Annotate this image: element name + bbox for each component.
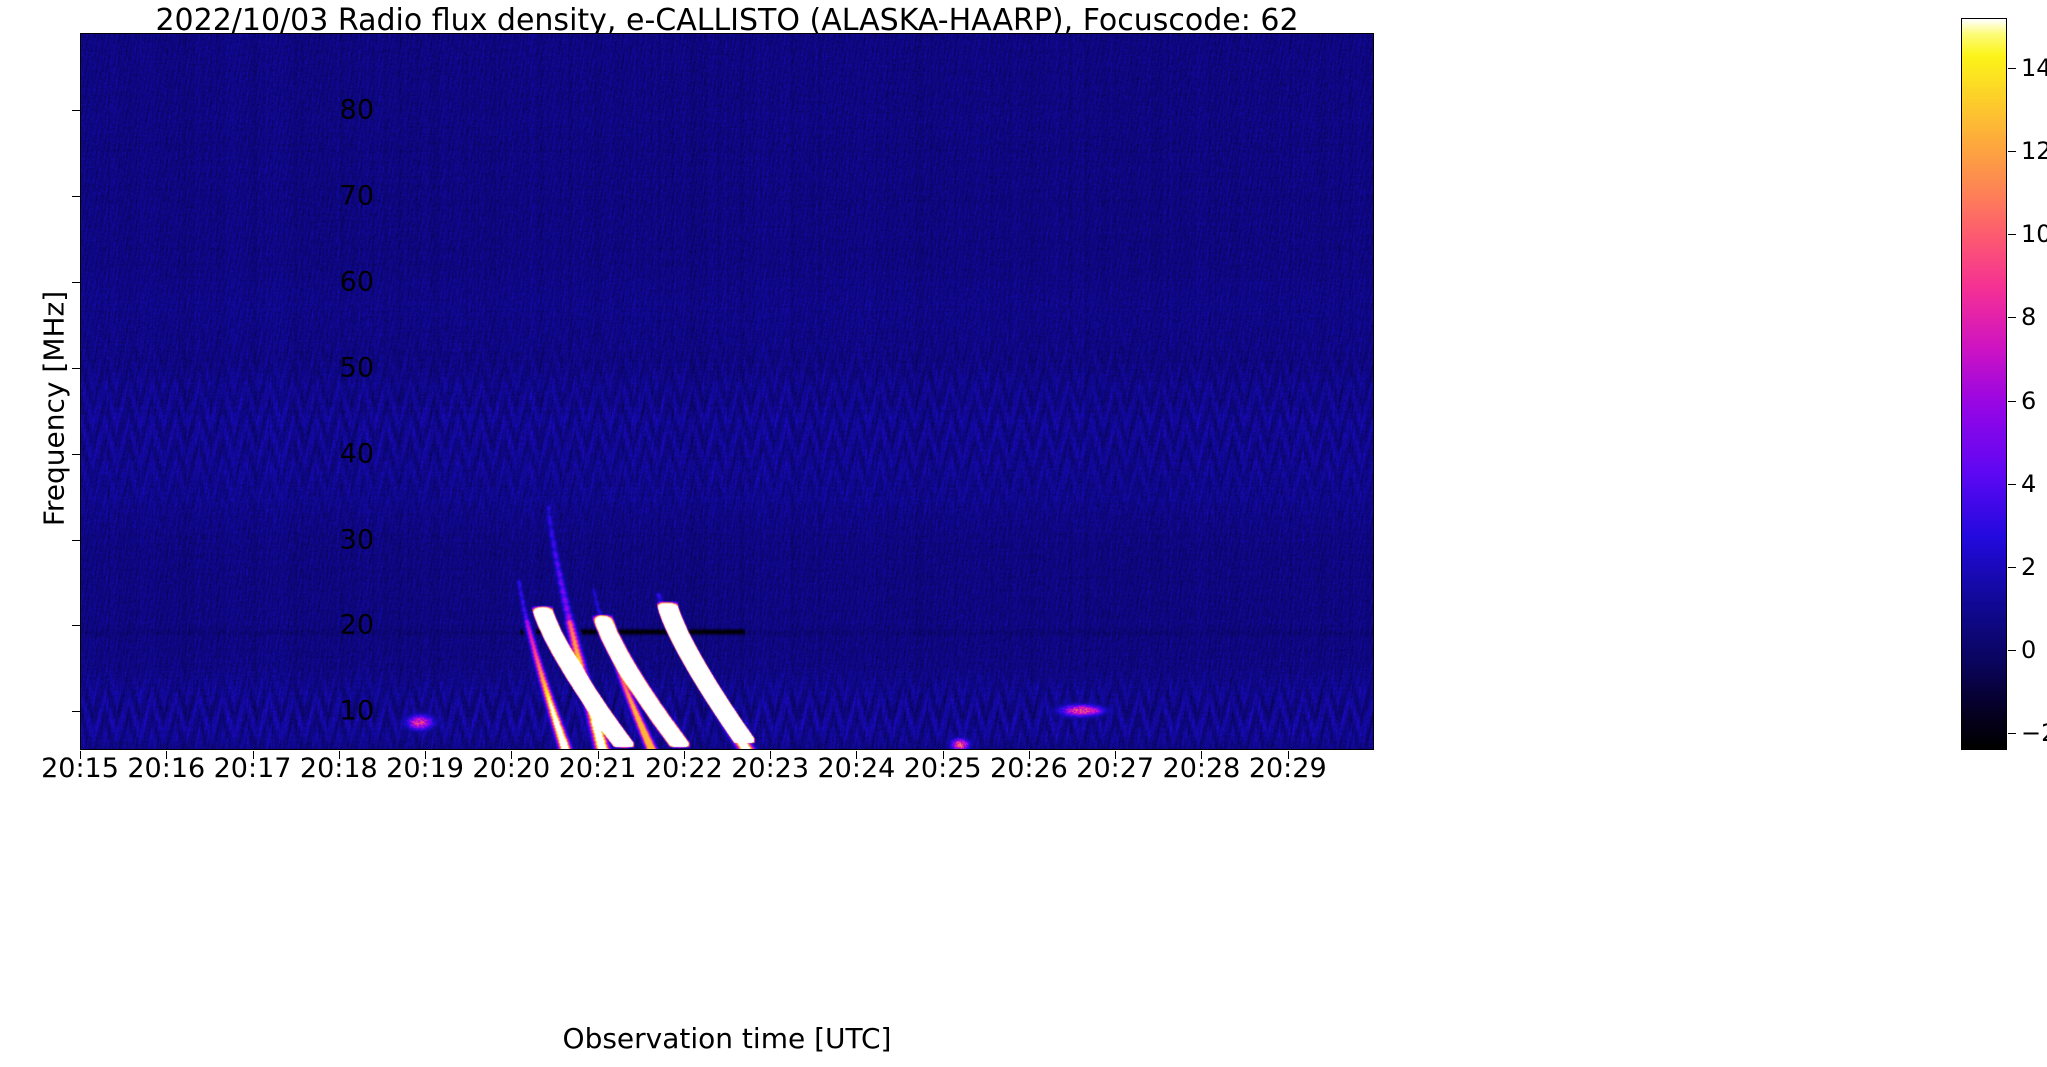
colorbar-tick-label: 10 — [2021, 222, 2047, 246]
x-tick-label: 20:20 — [472, 755, 550, 783]
y-tick-mark — [72, 540, 80, 541]
y-tick-mark — [72, 368, 80, 369]
x-tick-label: 20:24 — [817, 755, 895, 783]
x-tick-label: 20:17 — [214, 755, 292, 783]
colorbar-tick-mark — [2008, 401, 2016, 402]
y-tick-label: 30 — [340, 526, 374, 553]
y-tick-label: 50 — [340, 354, 374, 381]
x-tick-mark — [1029, 751, 1030, 759]
x-tick-label: 20:18 — [300, 755, 378, 783]
y-tick-label: 80 — [340, 97, 374, 124]
colorbar-tick-label: 8 — [2021, 305, 2036, 329]
x-tick-label: 20:27 — [1076, 755, 1154, 783]
x-tick-mark — [80, 751, 81, 759]
x-tick-mark — [770, 751, 771, 759]
colorbar-tick-mark — [2008, 733, 2016, 734]
x-tick-label: 20:22 — [645, 755, 723, 783]
colorbar-tick-label: 0 — [2021, 638, 2036, 662]
x-tick-label: 20:23 — [731, 755, 809, 783]
colorbar-tick-mark — [2008, 317, 2016, 318]
colorbar-tick-mark — [2008, 567, 2016, 568]
colorbar-tick-mark — [2008, 234, 2016, 235]
colorbar-tick-mark — [2008, 151, 2016, 152]
y-tick-label: 60 — [340, 269, 374, 296]
x-tick-label: 20:21 — [559, 755, 637, 783]
x-tick-mark — [684, 751, 685, 759]
x-tick-mark — [425, 751, 426, 759]
x-tick-label: 20:15 — [41, 755, 119, 783]
colorbar-tick-label: −2 — [2021, 721, 2047, 745]
colorbar-tick-label: 14 — [2021, 56, 2047, 80]
y-tick-label: 40 — [340, 440, 374, 467]
colorbar-tick-mark — [2008, 68, 2016, 69]
x-tick-mark — [511, 751, 512, 759]
spectrogram-plot-area — [80, 33, 1374, 750]
y-tick-label: 20 — [340, 612, 374, 639]
y-axis-label: Frequency [MHz] — [38, 59, 71, 759]
x-tick-mark — [253, 751, 254, 759]
y-tick-mark — [72, 711, 80, 712]
x-tick-label: 20:26 — [990, 755, 1068, 783]
y-tick-mark — [72, 625, 80, 626]
x-tick-mark — [166, 751, 167, 759]
y-tick-mark — [72, 282, 80, 283]
spectrogram-image — [81, 34, 1373, 749]
x-tick-mark — [1288, 751, 1289, 759]
x-tick-mark — [1115, 751, 1116, 759]
x-tick-mark — [1201, 751, 1202, 759]
colorbar-tick-label: 2 — [2021, 555, 2036, 579]
y-tick-label: 70 — [340, 183, 374, 210]
x-tick-mark — [339, 751, 340, 759]
colorbar-tick-label: 4 — [2021, 472, 2036, 496]
colorbar-tick-label: 6 — [2021, 389, 2036, 413]
y-tick-mark — [72, 196, 80, 197]
x-tick-label: 20:29 — [1249, 755, 1327, 783]
colorbar-tick-mark — [2008, 484, 2016, 485]
x-tick-label: 20:16 — [127, 755, 205, 783]
colorbar-tick-mark — [2008, 650, 2016, 651]
y-tick-label: 10 — [340, 698, 374, 725]
x-tick-label: 20:19 — [386, 755, 464, 783]
x-tick-mark — [856, 751, 857, 759]
y-tick-mark — [72, 110, 80, 111]
x-axis-label: Observation time [UTC] — [80, 1022, 1374, 1055]
colorbar-gradient — [1962, 19, 2006, 749]
colorbar-tick-label: 12 — [2021, 139, 2047, 163]
x-tick-mark — [598, 751, 599, 759]
colorbar — [1961, 18, 2007, 750]
x-tick-label: 20:25 — [904, 755, 982, 783]
y-tick-mark — [72, 454, 80, 455]
x-tick-mark — [943, 751, 944, 759]
figure-canvas: 2022/10/03 Radio flux density, e-CALLIST… — [0, 0, 2047, 1067]
x-tick-label: 20:28 — [1163, 755, 1241, 783]
